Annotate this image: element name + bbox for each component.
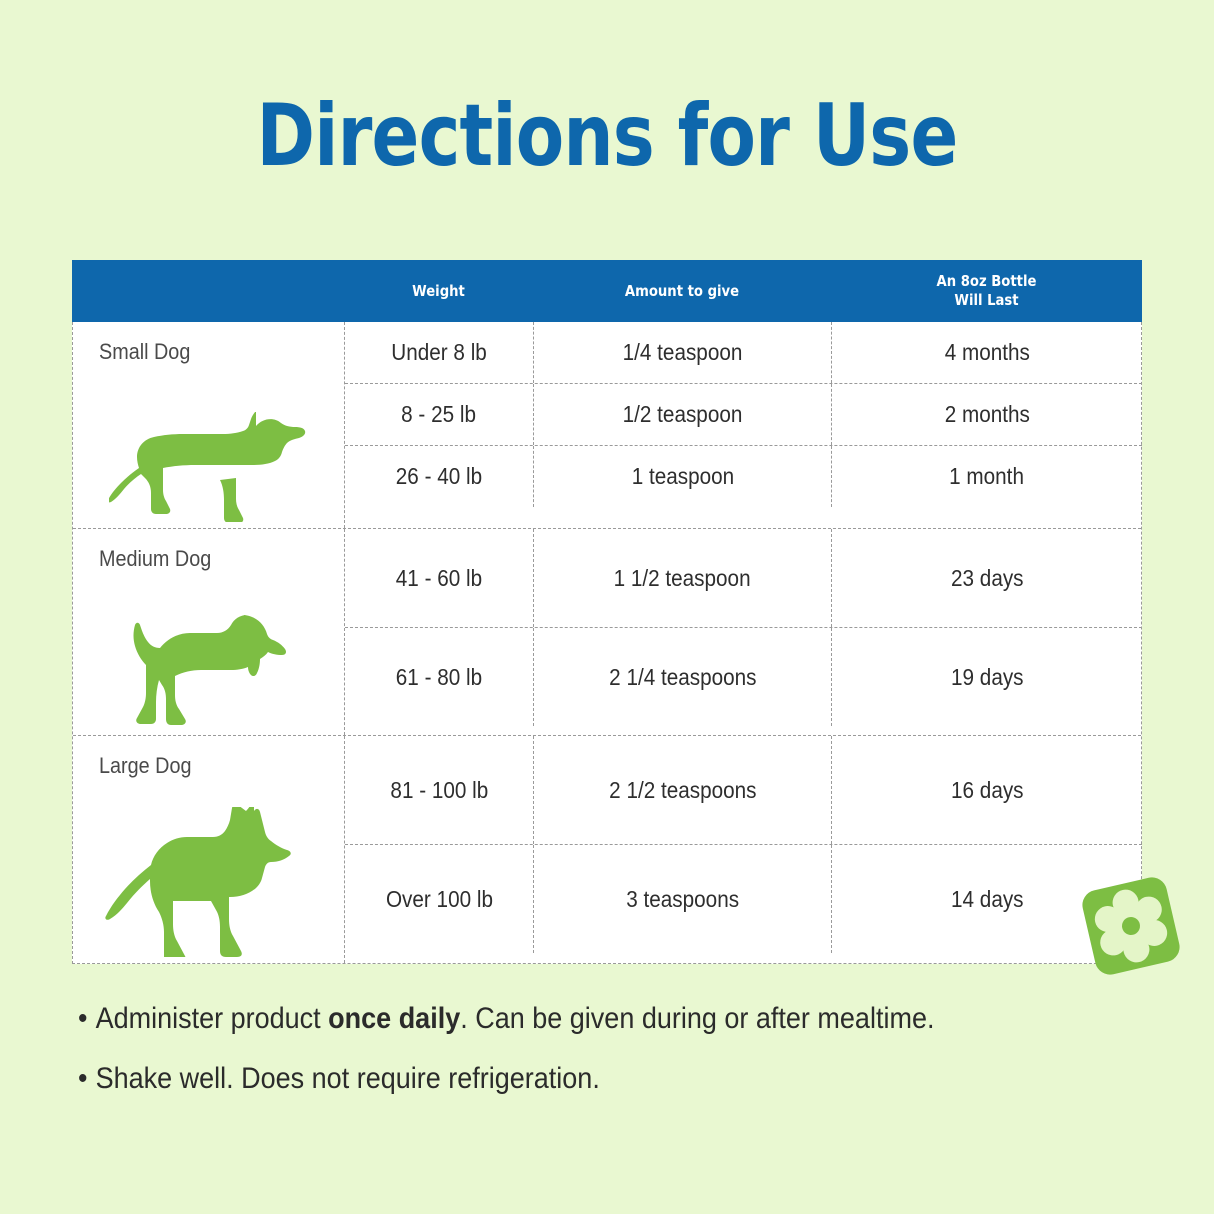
cell-amount-text: 2 1/2 teaspoons bbox=[609, 777, 756, 804]
table-row: Under 8 lb 1/4 teaspoon 4 months bbox=[345, 322, 1142, 384]
cell-weight-text: 81 - 100 lb bbox=[390, 777, 488, 804]
cell-duration: 4 months bbox=[832, 322, 1142, 383]
cell-weight-text: 61 - 80 lb bbox=[396, 664, 482, 691]
table-body: Small Dog Under 8 lb 1/4 teaspoon 4 mont… bbox=[72, 322, 1142, 964]
cell-duration-text: 16 days bbox=[951, 777, 1024, 804]
directions-for-use-page: Directions for Use Weight Amount to give… bbox=[0, 0, 1214, 1214]
cell-amount: 2 1/4 teaspoons bbox=[534, 628, 832, 726]
cell-amount: 3 teaspoons bbox=[534, 845, 832, 953]
table-row: 41 - 60 lb 1 1/2 teaspoon 23 days bbox=[345, 529, 1142, 628]
note-2-text: Shake well. Does not require refrigerati… bbox=[96, 1062, 600, 1095]
table-section-large-dog: Large Dog 81 - 100 lb 2 1/2 teaspoons 16… bbox=[73, 736, 1141, 963]
cell-amount-text: 3 teaspoons bbox=[626, 886, 739, 913]
cell-weight-text: 26 - 40 lb bbox=[396, 463, 482, 490]
cell-duration-text: 2 months bbox=[944, 401, 1029, 428]
cell-duration-text: 4 months bbox=[944, 339, 1029, 366]
cell-amount: 1/4 teaspoon bbox=[534, 322, 832, 383]
dachshund-silhouette-icon bbox=[73, 412, 344, 522]
cell-weight: 26 - 40 lb bbox=[345, 446, 534, 507]
cell-amount-text: 1 teaspoon bbox=[631, 463, 733, 490]
cell-amount-text: 1/2 teaspoon bbox=[623, 401, 743, 428]
breed-label-small-dog: Small Dog bbox=[99, 339, 190, 365]
note-1-before: Administer product bbox=[96, 1002, 329, 1035]
column-header-bottle-duration: An 8oz Bottle Will Last bbox=[850, 272, 1124, 310]
dosing-table: Weight Amount to give An 8oz Bottle Will… bbox=[72, 260, 1142, 964]
cell-weight: 8 - 25 lb bbox=[345, 384, 534, 445]
table-header-row: Weight Amount to give An 8oz Bottle Will… bbox=[72, 260, 1142, 322]
column-header-weight: Weight bbox=[355, 282, 521, 301]
column-header-amount: Amount to give bbox=[551, 282, 813, 301]
rows-large-dog: 81 - 100 lb 2 1/2 teaspoons 16 days Over… bbox=[345, 736, 1142, 963]
breed-cell-small-dog: Small Dog bbox=[73, 322, 345, 528]
cell-amount-text: 2 1/4 teaspoons bbox=[609, 664, 756, 691]
breed-cell-medium-dog: Medium Dog bbox=[73, 529, 345, 735]
cell-weight-text: Over 100 lb bbox=[385, 886, 492, 913]
cell-weight-text: Under 8 lb bbox=[391, 339, 487, 366]
cell-duration: 19 days bbox=[832, 628, 1142, 726]
cell-duration-text: 14 days bbox=[951, 886, 1024, 913]
note-1-bold: once daily bbox=[328, 1002, 460, 1035]
breed-label-large-dog: Large Dog bbox=[99, 753, 191, 779]
cell-weight-text: 41 - 60 lb bbox=[396, 565, 482, 592]
bullet-marker-icon: • bbox=[78, 1002, 87, 1036]
cell-duration-text: 1 month bbox=[950, 463, 1025, 490]
cell-weight: 41 - 60 lb bbox=[345, 529, 534, 627]
notes-list: •Administer product once daily. Can be g… bbox=[78, 1002, 1158, 1122]
table-section-medium-dog: Medium Dog 41 - 60 lb 1 1/2 teaspoon 23 … bbox=[73, 529, 1141, 736]
table-row: 61 - 80 lb 2 1/4 teaspoons 19 days bbox=[345, 628, 1142, 726]
bottle-header-line-2: Will Last bbox=[850, 291, 1124, 310]
cell-amount-text: 1 1/2 teaspoon bbox=[614, 565, 751, 592]
beagle-silhouette-icon bbox=[73, 607, 344, 729]
cell-duration-text: 19 days bbox=[951, 664, 1024, 691]
table-row: Over 100 lb 3 teaspoons 14 days bbox=[345, 845, 1142, 953]
cell-weight: Under 8 lb bbox=[345, 322, 534, 383]
cell-duration-text: 23 days bbox=[951, 565, 1024, 592]
cell-amount-text: 1/4 teaspoon bbox=[623, 339, 743, 366]
bullet-marker-icon: • bbox=[78, 1062, 87, 1096]
note-1-after: . Can be given during or after mealtime. bbox=[460, 1002, 934, 1035]
cell-duration: 23 days bbox=[832, 529, 1142, 627]
table-section-small-dog: Small Dog Under 8 lb 1/4 teaspoon 4 mont… bbox=[73, 322, 1141, 529]
cell-weight: 61 - 80 lb bbox=[345, 628, 534, 726]
table-row: 26 - 40 lb 1 teaspoon 1 month bbox=[345, 446, 1142, 507]
breed-label-medium-dog: Medium Dog bbox=[99, 546, 211, 572]
rows-medium-dog: 41 - 60 lb 1 1/2 teaspoon 23 days 61 - 8… bbox=[345, 529, 1142, 735]
cell-duration: 16 days bbox=[832, 736, 1142, 844]
shepherd-silhouette-icon bbox=[73, 807, 344, 957]
cell-duration: 1 month bbox=[832, 446, 1142, 507]
flower-logo-icon bbox=[1079, 874, 1183, 978]
table-row: 81 - 100 lb 2 1/2 teaspoons 16 days bbox=[345, 736, 1142, 845]
cell-amount: 1 teaspoon bbox=[534, 446, 832, 507]
bottle-header-line-1: An 8oz Bottle bbox=[850, 272, 1124, 291]
cell-amount: 1/2 teaspoon bbox=[534, 384, 832, 445]
cell-duration: 2 months bbox=[832, 384, 1142, 445]
page-title: Directions for Use bbox=[109, 88, 1104, 184]
table-row: 8 - 25 lb 1/2 teaspoon 2 months bbox=[345, 384, 1142, 446]
rows-small-dog: Under 8 lb 1/4 teaspoon 4 months 8 - 25 … bbox=[345, 322, 1142, 528]
cell-weight: 81 - 100 lb bbox=[345, 736, 534, 844]
cell-weight-text: 8 - 25 lb bbox=[402, 401, 477, 428]
cell-amount: 1 1/2 teaspoon bbox=[534, 529, 832, 627]
breed-cell-large-dog: Large Dog bbox=[73, 736, 345, 963]
note-item-2: •Shake well. Does not require refrigerat… bbox=[78, 1062, 1050, 1096]
cell-weight: Over 100 lb bbox=[345, 845, 534, 953]
cell-amount: 2 1/2 teaspoons bbox=[534, 736, 832, 844]
note-item-1: •Administer product once daily. Can be g… bbox=[78, 1002, 1050, 1036]
